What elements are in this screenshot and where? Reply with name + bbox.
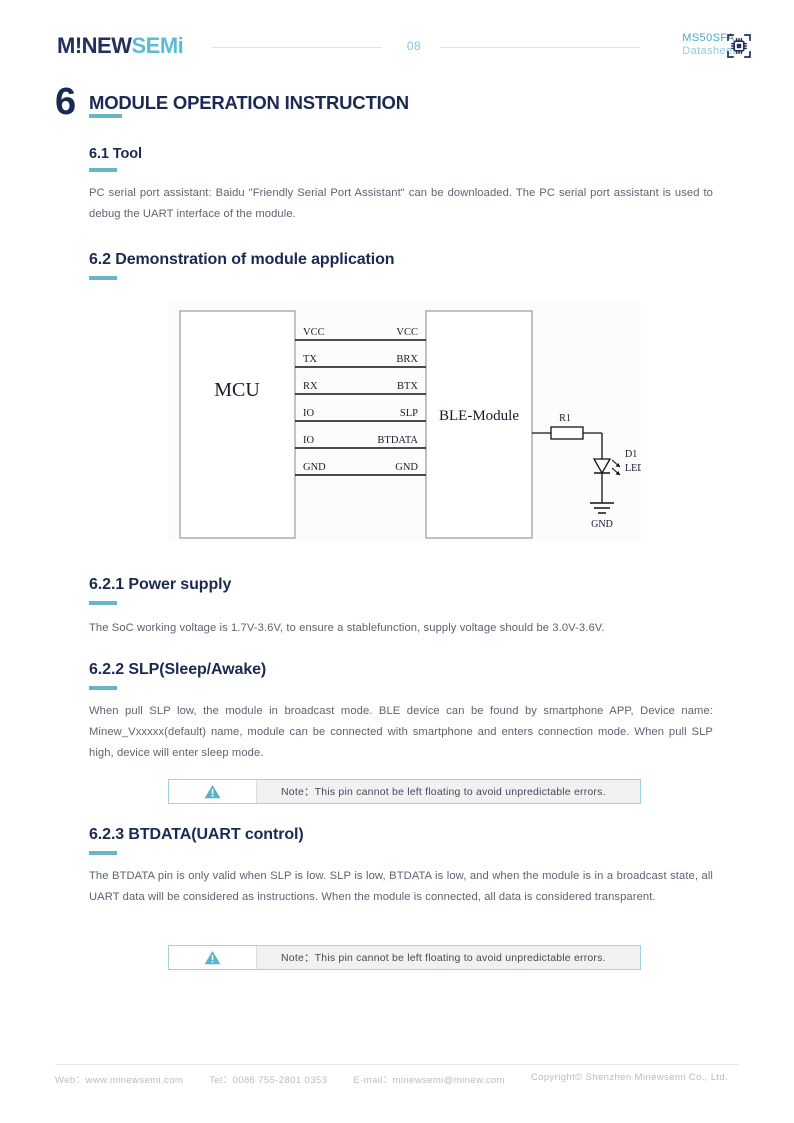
heading-6-2-1-underline <box>89 601 117 605</box>
svg-text:IO: IO <box>303 435 314 446</box>
page-footer: Web：www.minewsemi.com Tel：0086 755-2801 … <box>55 1072 745 1086</box>
pin-labels-left: VCC TX RX IO IO GND <box>303 327 326 473</box>
svg-text:GND: GND <box>395 462 418 473</box>
footer-copyright: Copyright© Shenzhen Minewsemi Co., Ltd. <box>531 1072 728 1086</box>
svg-text:BTX: BTX <box>397 381 418 392</box>
svg-text:IO: IO <box>303 408 314 419</box>
page-number: 08 <box>400 39 428 53</box>
pin-labels-right: VCC BRX BTX SLP BTDATA GND <box>377 327 418 473</box>
ble-module-block <box>426 311 532 538</box>
heading-6-2-2-slp: 6.2.2 SLP(Sleep/Awake) <box>89 661 266 679</box>
heading-6-2-3-btdata: 6.2.3 BTDATA(UART control) <box>89 826 304 844</box>
heading-6-2-underline <box>89 276 117 280</box>
body-6-2-2: When pull SLP low, the module in broadca… <box>89 701 713 764</box>
svg-text:RX: RX <box>303 381 318 392</box>
logo-text-dark: M!NEW <box>57 33 131 58</box>
heading-6-2-3-underline <box>89 851 117 855</box>
header-rule-right <box>440 47 640 48</box>
footer-rule <box>55 1064 739 1065</box>
page-header: M!NEWSEMi 08 MS50SFA Datasheet <box>0 0 794 78</box>
page-title: MODULE OPERATION INSTRUCTION <box>89 92 409 114</box>
footer-web: Web：www.minewsemi.com <box>55 1072 183 1086</box>
resistor-label: R1 <box>559 413 571 424</box>
body-6-2-1: The SoC working voltage is 1.7V-3.6V, to… <box>89 618 713 639</box>
heading-6-2-demonstration: 6.2 Demonstration of module application <box>89 251 394 269</box>
svg-text:BTDATA: BTDATA <box>377 435 418 446</box>
svg-text:BRX: BRX <box>396 354 418 365</box>
resistor-r1 <box>551 427 583 439</box>
diode-label: D1 <box>625 449 637 460</box>
note-box-slp: Note：This pin cannot be left floating to… <box>168 779 641 804</box>
mcu-label: MCU <box>214 379 260 401</box>
svg-text:TX: TX <box>303 354 317 365</box>
footer-email: E-mail：minewsemi@minew.com <box>353 1072 505 1086</box>
ground-symbol <box>590 503 614 513</box>
logo-text-light: SEMi <box>131 33 183 58</box>
note-text-btdata: Note：This pin cannot be left floating to… <box>257 950 640 965</box>
heading-6-2-2-underline <box>89 686 117 690</box>
mcu-block <box>180 311 295 538</box>
svg-text:VCC: VCC <box>303 327 325 338</box>
module-application-diagram: MCU BLE-Module VCC TX RX IO IO GND <box>168 301 641 542</box>
svg-text:SLP: SLP <box>400 408 418 419</box>
footer-tel: Tel：0086 755-2801 0353 <box>209 1072 327 1086</box>
section-underline <box>89 114 122 118</box>
warning-triangle-icon <box>204 950 221 965</box>
heading-6-2-1-power-supply: 6.2.1 Power supply <box>89 576 231 594</box>
section-number: 6 <box>55 83 76 121</box>
svg-text:GND: GND <box>303 462 326 473</box>
ble-module-label: BLE-Module <box>439 408 519 424</box>
led-circuit: R1 D1 LED1 <box>532 413 641 530</box>
header-rule-left <box>212 47 382 48</box>
ground-label: GND <box>591 519 613 530</box>
led-diode-symbol <box>594 459 610 473</box>
chip-icon <box>726 33 752 59</box>
note-box-btdata: Note：This pin cannot be left floating to… <box>168 945 641 970</box>
svg-text:VCC: VCC <box>396 327 418 338</box>
led-emission-arrows <box>612 460 620 475</box>
warning-icon-cell-2 <box>169 946 257 969</box>
led-label: LED1 <box>625 463 641 474</box>
heading-6-1-underline <box>89 168 117 172</box>
datasheet-page: M!NEWSEMi 08 MS50SFA Datasheet <box>0 0 794 1123</box>
body-6-2-3: The BTDATA pin is only valid when SLP is… <box>89 866 713 908</box>
note-text-slp: Note：This pin cannot be left floating to… <box>257 784 640 799</box>
body-6-1: PC serial port assistant: Baidu "Friendl… <box>89 183 713 225</box>
warning-triangle-icon <box>204 784 221 799</box>
company-logo: M!NEWSEMi <box>57 33 183 59</box>
heading-6-1-tool: 6.1 Tool <box>89 146 142 162</box>
warning-icon-cell <box>169 780 257 803</box>
